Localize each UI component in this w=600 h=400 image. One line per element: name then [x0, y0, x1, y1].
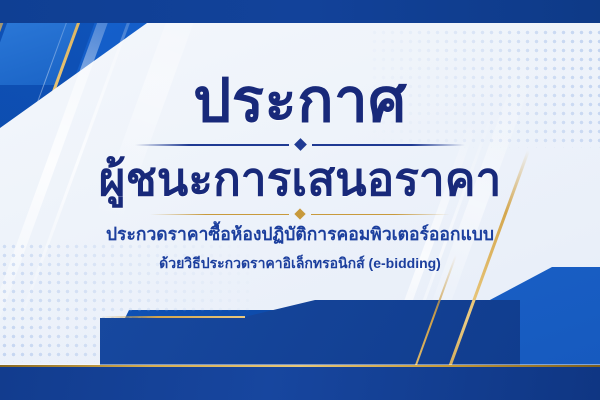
divider-blue-rule-right [312, 144, 466, 146]
banner-title-main: ประกาศ [0, 70, 600, 131]
divider-blue [135, 140, 465, 149]
stepped-block-gold-edge [100, 316, 245, 318]
divider-blue-rule-left [135, 144, 289, 146]
banner-description-line-2: ด้วยวิธีประกวดราคาอิเล็กทรอนิกส์ (e-bidd… [0, 255, 600, 273]
diamond-icon [294, 138, 307, 151]
divider-gold [150, 210, 450, 218]
announcement-banner: ประกาศ ผู้ชนะการเสนอราคา ประกวดราคาซื้อห… [0, 0, 600, 400]
banner-title-sub: ผู้ชนะการเสนอราคา [0, 155, 600, 203]
bottom-navy-bar [0, 367, 600, 400]
top-navy-band [0, 0, 600, 23]
banner-content: ประกาศ ผู้ชนะการเสนอราคา ประกวดราคาซื้อห… [0, 70, 600, 273]
divider-gold-rule-right [311, 214, 450, 216]
banner-description-line-1: ประกวดราคาซื้อห้องปฏิบัติการคอมพิวเตอร์อ… [0, 224, 600, 246]
divider-gold-rule-left [150, 214, 289, 216]
diamond-icon-gold [294, 209, 305, 220]
